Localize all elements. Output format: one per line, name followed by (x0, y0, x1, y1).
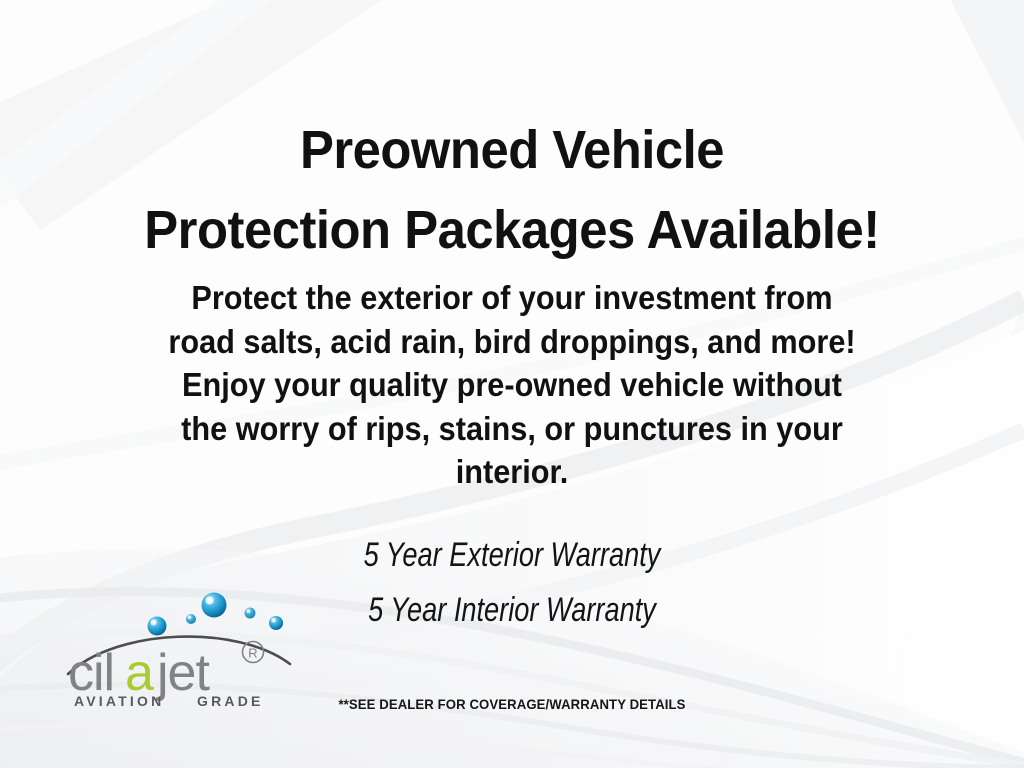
page-title: Preowned Vehicle Protection Packages Ava… (31, 110, 994, 270)
logo-tagline-grade: GRADE (197, 693, 264, 709)
body-copy-line-2: road salts, acid rain, bird droppings, a… (36, 320, 988, 364)
water-droplet-highlight (188, 616, 191, 619)
logo-tagline-aviation: AVIATION (74, 693, 164, 709)
water-droplet-icon (148, 617, 167, 636)
water-droplet-highlight (271, 618, 276, 623)
water-droplet-highlight (206, 597, 214, 605)
body-copy-line-1: Protect the exterior of your investment … (36, 276, 988, 320)
water-droplet-icon (186, 614, 196, 624)
svg-text:R: R (248, 646, 257, 661)
body-copy-line-5: interior. (36, 450, 988, 494)
headline-line-2: Protection Packages Available! (31, 190, 994, 270)
slide-canvas: Preowned Vehicle Protection Packages Ava… (0, 0, 1024, 768)
cilajet-logo: cil a jet R AVIATION GRADE (62, 582, 292, 710)
body-copy-line-4: the worry of rips, stains, or punctures … (36, 407, 988, 451)
water-droplet-icon (269, 616, 283, 630)
water-droplet-highlight (151, 620, 157, 626)
water-droplet-icon (202, 593, 227, 618)
water-droplet-highlight (247, 610, 251, 614)
body-copy-line-3: Enjoy your quality pre-owned vehicle wit… (36, 363, 988, 407)
headline-line-1: Preowned Vehicle (31, 110, 994, 190)
body-copy: Protect the exterior of your investment … (36, 276, 988, 494)
registered-trademark-icon: R (243, 642, 264, 663)
warranty-exterior: 5 Year Exterior Warranty (102, 528, 921, 583)
water-droplet-icon (245, 608, 256, 619)
